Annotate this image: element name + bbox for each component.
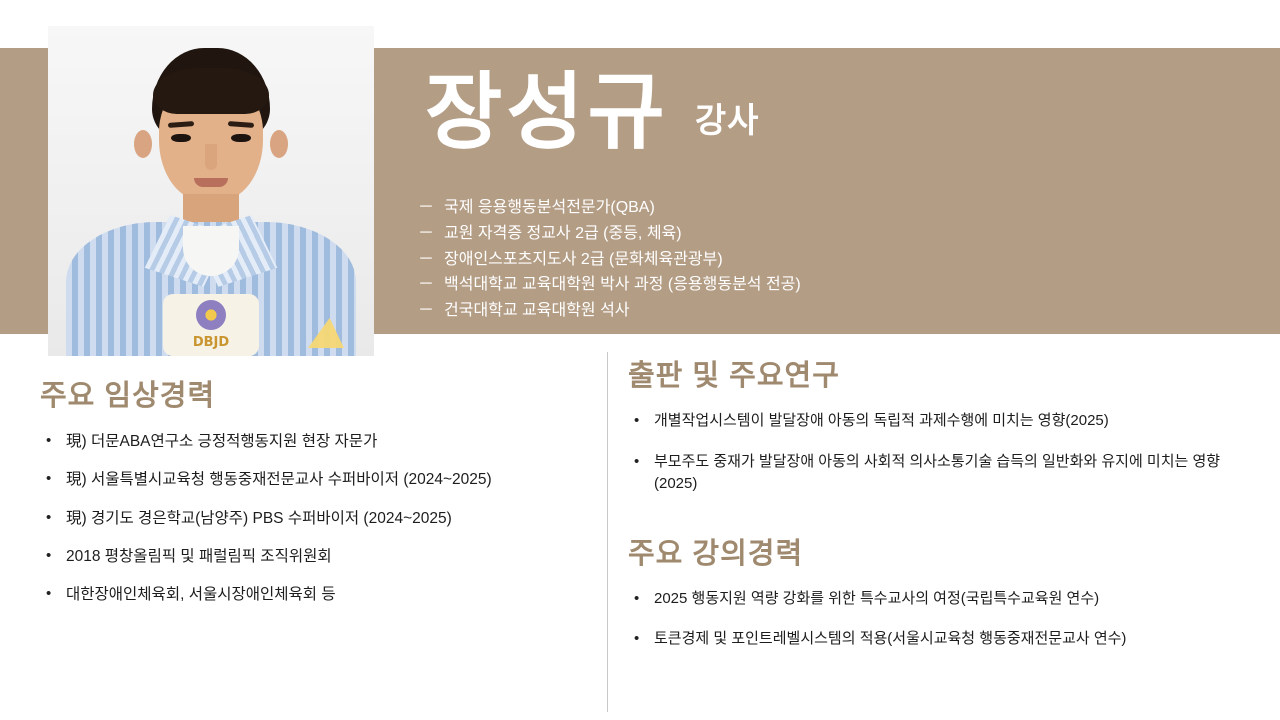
bullet-icon: • (628, 451, 654, 474)
portrait-eye-right (231, 134, 251, 142)
bullet-icon: • (628, 410, 654, 433)
credential-item: － 국제 응용행동분석전문가(QBA) (418, 196, 1238, 221)
section-title-lectures: 주요 강의경력 (628, 530, 1258, 572)
portrait-logo-text: DBJD (163, 335, 259, 350)
dash-icon: － (418, 299, 444, 324)
portrait-ear-right (270, 130, 288, 158)
bullet-icon: • (628, 628, 654, 651)
section-title-clinical: 주요 임상경력 (40, 372, 600, 414)
instructor-portrait-photo: DBJD (48, 26, 374, 356)
portrait-eye-left (171, 134, 191, 142)
instructor-role: 강사 (695, 93, 760, 154)
credentials-list: － 국제 응용행동분석전문가(QBA) － 교원 자격증 정교사 2급 (중등,… (418, 196, 1238, 325)
list-item: • 부모주도 중재가 발달장애 아동의 사회적 의사소통기술 습득의 일반화와 … (628, 451, 1258, 496)
credential-text: 교원 자격증 정교사 2급 (중등, 체육) (444, 222, 682, 247)
list-item: • 現) 더문ABA연구소 긍정적행동지원 현장 자문가 (40, 430, 600, 453)
credential-text: 건국대학교 교육대학원 석사 (444, 299, 630, 324)
dash-icon: － (418, 273, 444, 298)
list-item-text: 現) 경기도 경은학교(남양주) PBS 수퍼바이저 (2024~2025) (66, 507, 600, 530)
list-item: • 現) 서울특별시교육청 행동중재전문교사 수퍼바이저 (2024~2025) (40, 468, 600, 491)
list-item: • 2018 평창올림픽 및 패럴림픽 조직위원회 (40, 545, 600, 568)
list-item-text: 現) 서울특별시교육청 행동중재전문교사 수퍼바이저 (2024~2025) (66, 468, 600, 491)
list-item: • 2025 행동지원 역량 강화를 위한 특수교사의 여정(국립특수교육원 연… (628, 588, 1258, 611)
dash-icon: － (418, 222, 444, 247)
credential-item: － 백석대학교 교육대학원 박사 과정 (응용행동분석 전공) (418, 273, 1238, 298)
list-item-text: 現) 더문ABA연구소 긍정적행동지원 현장 자문가 (66, 430, 600, 453)
list-item-text: 2025 행동지원 역량 강화를 위한 특수교사의 여정(국립특수교육원 연수) (654, 588, 1258, 611)
portrait-fringe (153, 68, 269, 114)
clinical-experience-list: • 現) 더문ABA연구소 긍정적행동지원 현장 자문가 • 現) 서울특별시교… (40, 430, 600, 606)
list-item: • 토큰경제 및 포인트레벨시스템의 적용(서울시교육청 행동중재전문교사 연수… (628, 628, 1258, 651)
portrait-mouth (194, 178, 228, 187)
list-item-text: 부모주도 중재가 발달장애 아동의 사회적 의사소통기술 습득의 일반화와 유지… (654, 451, 1258, 496)
bullet-icon: • (40, 430, 66, 453)
list-item-text: 대한장애인체육회, 서울시장애인체육회 등 (66, 583, 600, 606)
portrait-ear-left (134, 130, 152, 158)
credential-item: － 건국대학교 교육대학원 석사 (418, 299, 1238, 324)
credential-text: 국제 응용행동분석전문가(QBA) (444, 196, 655, 221)
instructor-name: 장성규 (425, 70, 669, 154)
bullet-icon: • (40, 545, 66, 568)
name-block: 장성규 강사 (425, 70, 759, 154)
vertical-divider (607, 352, 608, 712)
bullet-icon: • (40, 468, 66, 491)
portrait-nose (205, 144, 217, 170)
lectures-list: • 2025 행동지원 역량 강화를 위한 특수교사의 여정(국립특수교육원 연… (628, 588, 1258, 651)
list-item-text: 개별작업시스템이 발달장애 아동의 독립적 과제수행에 미치는 영향(2025) (654, 410, 1258, 433)
publications-list: • 개별작업시스템이 발달장애 아동의 독립적 과제수행에 미치는 영향(202… (628, 410, 1258, 496)
list-item: • 개별작업시스템이 발달장애 아동의 독립적 과제수행에 미치는 영향(202… (628, 410, 1258, 433)
credential-item: － 교원 자격증 정교사 2급 (중등, 체육) (418, 222, 1238, 247)
section-title-publications: 출판 및 주요연구 (628, 352, 1258, 394)
list-item: • 대한장애인체육회, 서울시장애인체육회 등 (40, 583, 600, 606)
list-item-text: 토큰경제 및 포인트레벨시스템의 적용(서울시교육청 행동중재전문교사 연수) (654, 628, 1258, 651)
credential-text: 장애인스포츠지도사 2급 (문화체육관광부) (444, 248, 723, 273)
list-item: • 現) 경기도 경은학교(남양주) PBS 수퍼바이저 (2024~2025) (40, 507, 600, 530)
dash-icon: － (418, 196, 444, 221)
portrait-shirt-logo: DBJD (163, 294, 259, 356)
bullet-icon: • (628, 588, 654, 611)
clinical-experience-section: 주요 임상경력 • 現) 더문ABA연구소 긍정적행동지원 현장 자문가 • 現… (40, 372, 600, 621)
flower-icon (196, 300, 226, 330)
slide-canvas: DBJD 장성규 강사 － 국제 응용행동분석전문가(QBA) － 교원 자격증… (0, 0, 1280, 720)
bullet-icon: • (40, 507, 66, 530)
right-column: 출판 및 주요연구 • 개별작업시스템이 발달장애 아동의 독립적 과제수행에 … (628, 352, 1258, 669)
dash-icon: － (418, 248, 444, 273)
credential-text: 백석대학교 교육대학원 박사 과정 (응용행동분석 전공) (444, 273, 801, 298)
bullet-icon: • (40, 583, 66, 606)
list-item-text: 2018 평창올림픽 및 패럴림픽 조직위원회 (66, 545, 600, 568)
credential-item: － 장애인스포츠지도사 2급 (문화체육관광부) (418, 248, 1238, 273)
